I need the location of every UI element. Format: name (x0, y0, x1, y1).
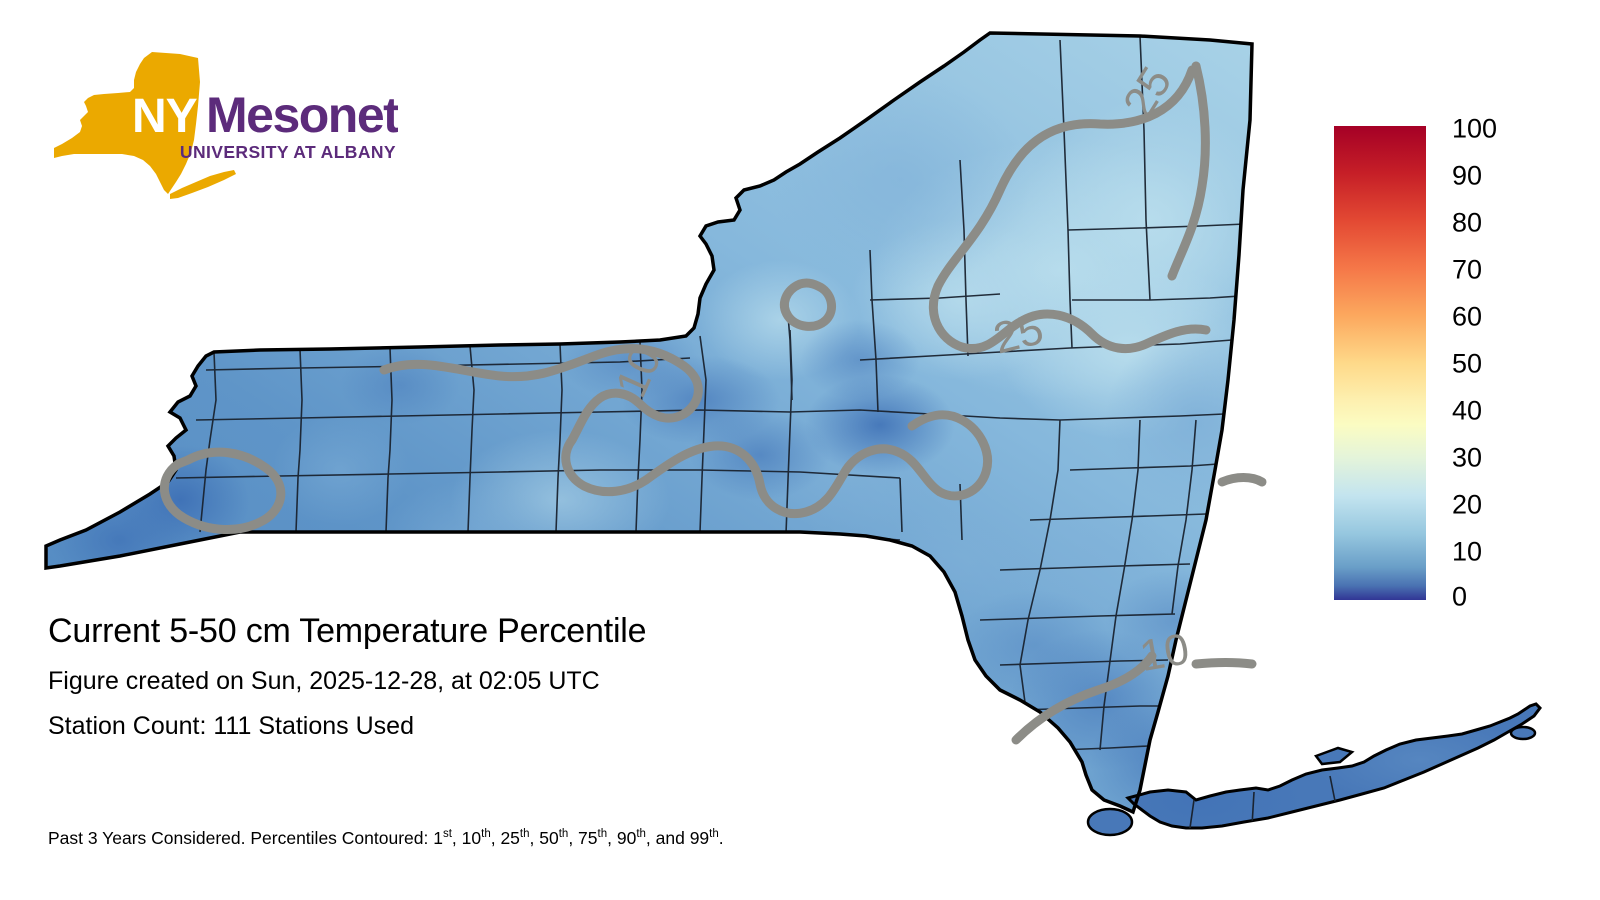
map-fill-long-island (1090, 704, 1540, 850)
colorbar-tick-0: 0 (1452, 582, 1467, 613)
colorbar-tick-100: 100 (1452, 114, 1497, 145)
colorbar-tick-30: 30 (1452, 443, 1482, 474)
colorbar-tick-40: 40 (1452, 396, 1482, 427)
nys-mesonet-logo[interactable]: NYS Mesonet UNIVERSITY AT ALBANY (48, 48, 398, 208)
logo-mesonet-text: Mesonet (206, 87, 398, 143)
colorbar-tick-60: 60 (1452, 302, 1482, 333)
footnote: Past 3 Years Considered. Percentiles Con… (48, 828, 724, 849)
colorbar-tick-80: 80 (1452, 208, 1482, 239)
page-title: Current 5-50 cm Temperature Percentile (48, 612, 1028, 651)
contour-label-10-hudson: 10 (1136, 624, 1193, 681)
creation-timestamp: Figure created on Sun, 2025-12-28, at 02… (48, 667, 1028, 696)
logo-university-text: UNIVERSITY AT ALBANY (180, 142, 396, 162)
colorbar[interactable]: 100 90 80 70 60 50 40 30 20 10 0 (1334, 126, 1584, 606)
colorbar-tick-90: 90 (1452, 161, 1482, 192)
footnote-text: Past 3 Years Considered. Percentiles Con… (48, 828, 443, 848)
figure-canvas: 25 25 10 10 NYS Mesonet UNIVERSITY AT AL… (0, 0, 1600, 900)
colorbar-gradient (1334, 126, 1426, 600)
figure-text-block: Current 5-50 cm Temperature Percentile F… (48, 612, 1028, 741)
station-count: Station Count: 111 Stations Used (48, 712, 1028, 741)
colorbar-tick-20: 20 (1452, 490, 1482, 521)
colorbar-tick-70: 70 (1452, 255, 1482, 286)
colorbar-tick-50: 50 (1452, 349, 1482, 380)
colorbar-tick-10: 10 (1452, 537, 1482, 568)
